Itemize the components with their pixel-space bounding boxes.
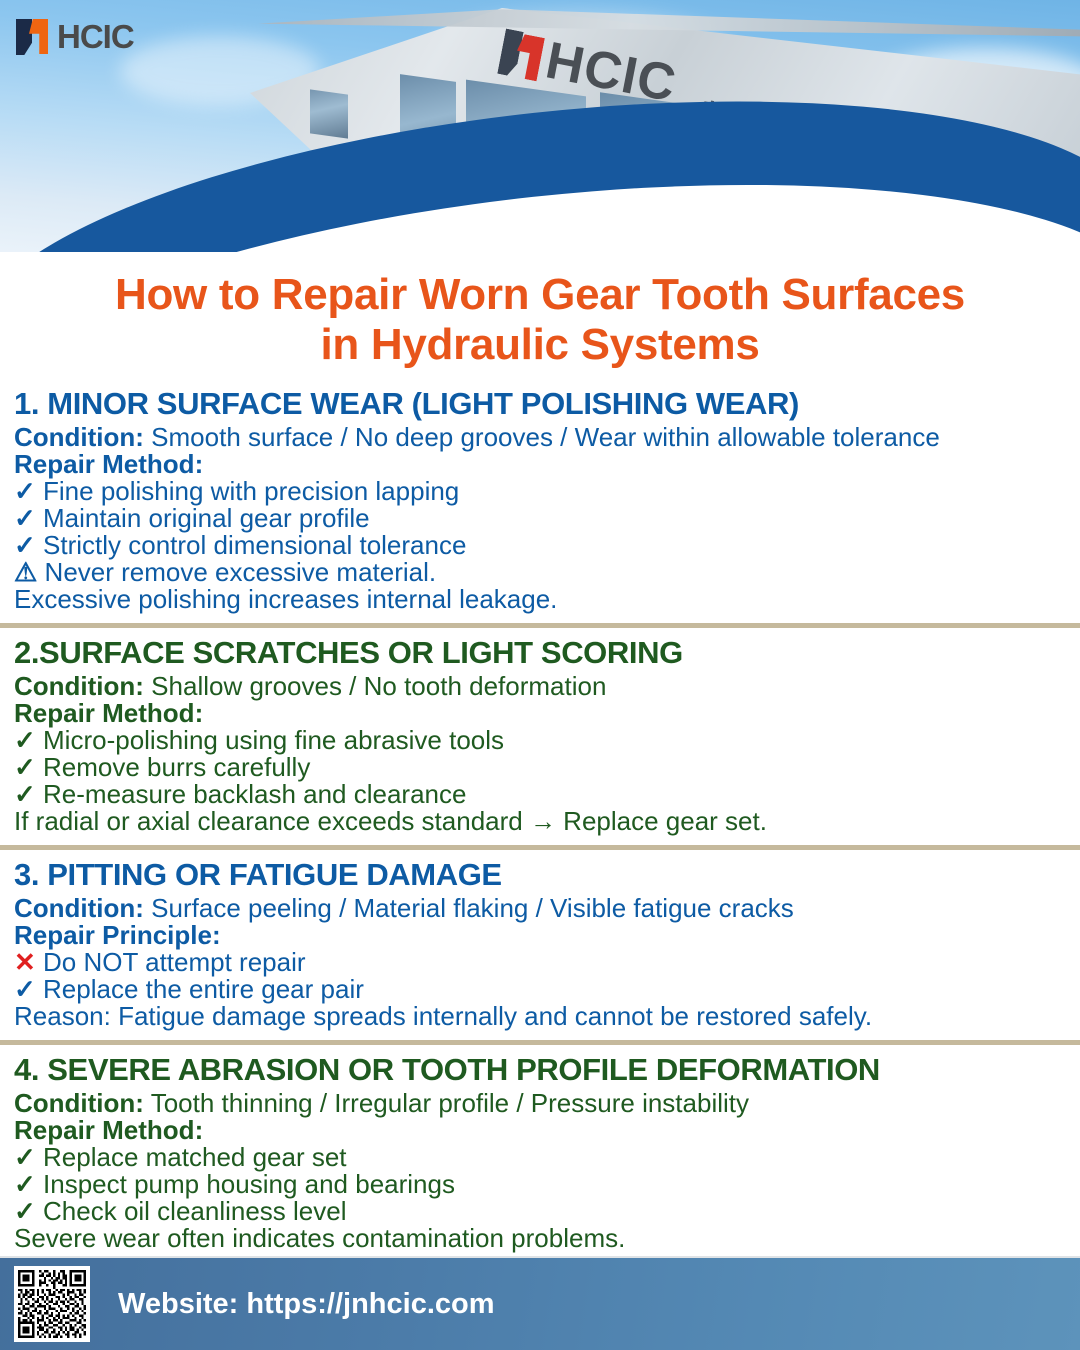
bullet-text: Never remove excessive material. <box>37 557 436 587</box>
bullet-item: ✓ Re-measure backlash and clearance <box>14 781 1068 808</box>
bullet-text: Strictly control dimensional tolerance <box>36 530 467 560</box>
sections-list: 1. MINOR SURFACE WEAR (LIGHT POLISHING W… <box>0 386 1080 1274</box>
bullet-text: Re-measure backlash and clearance <box>36 779 467 809</box>
section-note: Reason: Fatigue damage spreads internall… <box>14 1003 1068 1030</box>
method-label: Repair Method: <box>14 700 1068 727</box>
hcic-logo-mark-icon <box>16 19 48 55</box>
bullet-item: ✓ Check oil cleanliness level <box>14 1198 1068 1225</box>
condition-line: Condition: Surface peeling / Material fl… <box>14 895 1068 922</box>
section-divider <box>0 623 1080 628</box>
check-icon: ✓ <box>14 727 36 754</box>
section-heading: 4. SEVERE ABRASION OR TOOTH PROFILE DEFO… <box>14 1052 1068 1088</box>
check-icon: ✓ <box>14 532 36 559</box>
section-note: If radial or axial clearance exceeds sta… <box>14 808 1068 835</box>
method-label: Repair Principle: <box>14 922 1068 949</box>
section-note: Excessive polishing increases internal l… <box>14 586 1068 613</box>
bullet-item: ✓ Fine polishing with precision lapping <box>14 478 1068 505</box>
bullet-item: ⚠ Never remove excessive material. <box>14 559 1068 586</box>
website-label[interactable]: Website: https://jnhcic.com <box>118 1288 495 1321</box>
check-icon: ✓ <box>14 1144 36 1171</box>
bullet-text: Check oil cleanliness level <box>36 1196 347 1226</box>
method-label: Repair Method: <box>14 451 1068 478</box>
condition-text: Smooth surface / No deep grooves / Wear … <box>144 422 940 452</box>
condition-line: Condition: Smooth surface / No deep groo… <box>14 424 1068 451</box>
hcic-mark-icon <box>497 29 545 82</box>
condition-label: Condition: <box>14 671 144 701</box>
section-note: Severe wear often indicates contaminatio… <box>14 1225 1068 1252</box>
brand-logo-text: HCIC <box>57 18 134 56</box>
section-divider <box>0 845 1080 850</box>
bullet-text: Replace matched gear set <box>36 1142 347 1172</box>
bullet-text: Inspect pump housing and bearings <box>36 1169 455 1199</box>
bullet-item: ✓ Replace the entire gear pair <box>14 976 1068 1003</box>
section-heading: 3. PITTING OR FATIGUE DAMAGE <box>14 857 1068 893</box>
cross-icon: ✕ <box>14 949 36 976</box>
condition-text: Tooth thinning / Irregular profile / Pre… <box>144 1088 749 1118</box>
section-heading: 1. MINOR SURFACE WEAR (LIGHT POLISHING W… <box>14 386 1068 422</box>
bullet-text: Replace the entire gear pair <box>36 974 364 1004</box>
page-title-line-2: in Hydraulic Systems <box>0 320 1080 370</box>
check-icon: ✓ <box>14 505 36 532</box>
check-icon: ✓ <box>14 1198 36 1225</box>
bullet-item: ✓ Maintain original gear profile <box>14 505 1068 532</box>
condition-label: Condition: <box>14 893 144 923</box>
bullet-item: ✕ Do NOT attempt repair <box>14 949 1068 976</box>
section-severe-abrasion: 4. SEVERE ABRASION OR TOOTH PROFILE DEFO… <box>0 1052 1080 1256</box>
page-title-line-1: How to Repair Worn Gear Tooth Surfaces <box>0 270 1080 320</box>
bullet-text: Do NOT attempt repair <box>36 947 306 977</box>
bullet-item: ✓ Inspect pump housing and bearings <box>14 1171 1068 1198</box>
bullet-text: Maintain original gear profile <box>36 503 370 533</box>
check-icon: ✓ <box>14 781 36 808</box>
condition-text: Shallow grooves / No tooth deformation <box>144 671 606 701</box>
section-pitting-fatigue: 3. PITTING OR FATIGUE DAMAGECondition: S… <box>0 857 1080 1034</box>
bullet-text: Remove burrs carefully <box>36 752 311 782</box>
condition-line: Condition: Shallow grooves / No tooth de… <box>14 673 1068 700</box>
banner-bottom-fill <box>0 252 1080 268</box>
header-banner: HCIC 華辰重机 <box>0 0 1080 268</box>
footer-bar: Website: https://jnhcic.com <box>0 1258 1080 1350</box>
check-icon: ✓ <box>14 1171 36 1198</box>
warning-icon: ⚠ <box>14 559 37 586</box>
method-label: Repair Method: <box>14 1117 1068 1144</box>
check-icon: ✓ <box>14 478 36 505</box>
section-heading: 2.SURFACE SCRATCHES OR LIGHT SCORING <box>14 635 1068 671</box>
bullet-item: ✓ Strictly control dimensional tolerance <box>14 532 1068 559</box>
check-icon: ✓ <box>14 754 36 781</box>
bullet-item: ✓ Replace matched gear set <box>14 1144 1068 1171</box>
page-title: How to Repair Worn Gear Tooth Surfaces i… <box>0 270 1080 370</box>
condition-label: Condition: <box>14 1088 144 1118</box>
bullet-text: Fine polishing with precision lapping <box>36 476 459 506</box>
section-divider <box>0 1040 1080 1045</box>
condition-line: Condition: Tooth thinning / Irregular pr… <box>14 1090 1068 1117</box>
bullet-item: ✓ Remove burrs carefully <box>14 754 1068 781</box>
building-window <box>310 89 348 138</box>
bullet-text: Micro-polishing using fine abrasive tool… <box>36 725 504 755</box>
condition-text: Surface peeling / Material flaking / Vis… <box>144 893 794 923</box>
bullet-item: ✓ Micro-polishing using fine abrasive to… <box>14 727 1068 754</box>
section-surface-scratches: 2.SURFACE SCRATCHES OR LIGHT SCORINGCond… <box>0 635 1080 839</box>
brand-logo[interactable]: HCIC <box>16 18 134 56</box>
qr-code-icon[interactable] <box>14 1266 90 1342</box>
check-icon: ✓ <box>14 976 36 1003</box>
condition-label: Condition: <box>14 422 144 452</box>
section-minor-surface-wear: 1. MINOR SURFACE WEAR (LIGHT POLISHING W… <box>0 386 1080 617</box>
